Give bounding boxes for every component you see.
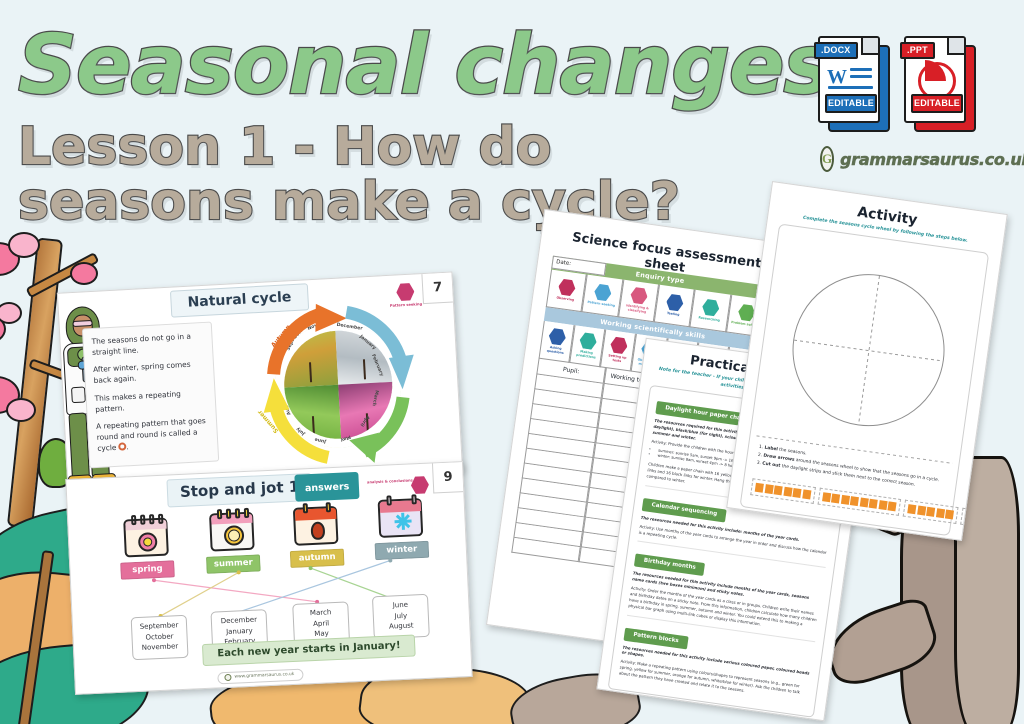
month-box-autumn-months[interactable]: September October November xyxy=(131,615,189,660)
enquiry-cell-identifying-classifying[interactable]: Identifying & classifying xyxy=(618,280,659,323)
page-fold-icon xyxy=(861,37,879,55)
grammarsaurus-leaf-icon: G xyxy=(820,146,834,172)
enquiry-cell-testing[interactable]: Testing xyxy=(654,285,695,328)
enquiry-cell-researching[interactable]: Researching xyxy=(690,290,731,333)
page-title: Seasonal changes xyxy=(18,24,818,108)
daylight-strip-1[interactable] xyxy=(750,478,815,504)
activity-frame: 1. Label the seasons. 2. Draw arrows aro… xyxy=(739,223,989,536)
month-box-summer-months[interactable]: June July August xyxy=(372,594,430,639)
sheet-activity[interactable]: Activity Complete the seasons cycle whee… xyxy=(726,181,1008,541)
docx-editable-label: EDITABLE xyxy=(825,94,877,113)
slide-page-number: 7 xyxy=(421,272,453,304)
daylight-strip-3[interactable] xyxy=(903,500,959,524)
natural-cycle-text-panel: The seasons do not go in a straight line… xyxy=(82,322,219,469)
page-fold-icon-2 xyxy=(947,37,965,55)
practical-footer-url: www.grammarsaurus.co.uk xyxy=(690,708,739,719)
enquiry-cell-pattern-seeking[interactable]: Pattern seeking xyxy=(582,274,623,317)
cycle-paragraph-2: After winter, spring comes back again. xyxy=(93,359,206,386)
docx-format-tag: .DOCX xyxy=(814,42,858,59)
daylight-strip-2[interactable] xyxy=(817,488,901,516)
seasons-wheel-outline[interactable] xyxy=(783,264,955,436)
slide-stop-and-jot[interactable]: 9 analysis & conclusions Stop and jot 1 … xyxy=(65,461,472,695)
enquiry-cell-observing[interactable]: Observing xyxy=(546,269,587,312)
title-block: Seasonal changes Lesson 1 - How do seaso… xyxy=(18,24,818,230)
ppt-editable-badge: EDITABLE .PPT xyxy=(904,36,976,132)
grammarsaurus-leaf-icon-small xyxy=(680,705,688,713)
daylight-strip-4[interactable] xyxy=(960,508,1006,531)
cycle-paragraph-3: This makes a repeating pattern. xyxy=(94,388,207,415)
wheel-arrows xyxy=(244,296,433,473)
ppt-format-tag: .PPT xyxy=(900,42,935,59)
brand-logo[interactable]: G grammarsaurus.co.uk xyxy=(820,146,998,172)
docx-editable-badge: W EDITABLE .DOCX xyxy=(818,36,890,132)
cycle-paragraph-1: The seasons do not go in a straight line… xyxy=(91,331,204,358)
seasons-cycle-wheel: September October November December Janu… xyxy=(244,296,433,473)
ppt-editable-label: EDITABLE xyxy=(911,94,963,113)
poster-canvas: Seasonal changes Lesson 1 - How do seaso… xyxy=(0,0,1024,724)
grammarsaurus-leaf-icon-small xyxy=(224,674,231,681)
cycle-arrows-icon xyxy=(118,442,126,450)
stopjot-footer-url: www.grammarsaurus.co.uk xyxy=(234,672,294,680)
slide-natural-cycle[interactable]: 7 Pattern seeking Natural cycle The seas… xyxy=(57,271,463,492)
page-subtitle: Lesson 1 - How do seasons make a cycle? xyxy=(18,120,718,230)
doc-lines-icon xyxy=(850,68,872,82)
cycle-paragraph-4: A repeating pattern that goes round and … xyxy=(96,416,210,454)
badges-panel: W EDITABLE .DOCX EDITABLE xyxy=(818,36,998,172)
brand-name: grammarsaurus.co.uk xyxy=(840,150,1024,169)
